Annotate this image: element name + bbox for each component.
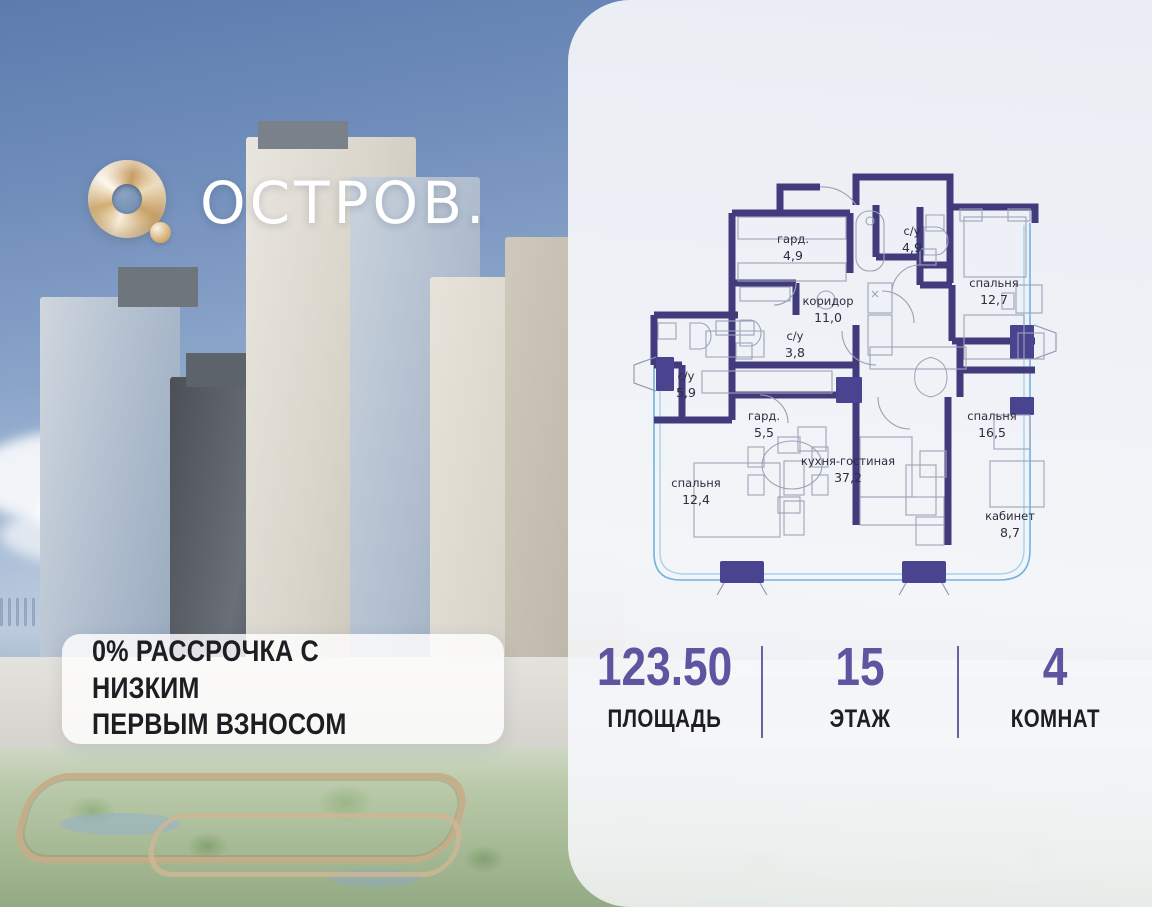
roof-box [118, 267, 198, 307]
brand-name: ОСТРОВ. [200, 174, 488, 232]
stat-rooms: 4 КОМНАТ [959, 640, 1152, 732]
roof-box [258, 121, 348, 149]
island-ring-logo-icon [88, 160, 174, 246]
stat-area: 123.50 ПЛОЩАДЬ [568, 640, 761, 732]
svg-text:гард.: гард. [748, 409, 780, 423]
boardwalk-path [142, 813, 468, 877]
svg-text:3,8: 3,8 [785, 345, 805, 360]
floor-plan-card: .w{stroke:#413b7d;stroke-width:7;fill:no… [568, 0, 1152, 907]
stat-value: 15 [835, 640, 884, 694]
stat-label: ПЛОЩАДЬ [608, 707, 722, 732]
floor-plan-drawing[interactable]: .w{stroke:#413b7d;stroke-width:7;fill:no… [620, 165, 1100, 595]
svg-text:37,2: 37,2 [834, 470, 862, 485]
svg-text:5,9: 5,9 [676, 385, 696, 400]
brand-logo[interactable]: ОСТРОВ. [88, 160, 488, 246]
svg-text:гард.: гард. [777, 232, 809, 246]
stat-floor: 15 ЭТАЖ [763, 640, 956, 732]
svg-text:кухня-гостиная: кухня-гостиная [801, 454, 895, 468]
promo-banner: 0% РАССРОЧКА С НИЗКИМ ПЕРВЫМ ВЗНОСОМ [62, 634, 504, 744]
tower [40, 297, 180, 677]
stat-value: 123.50 [597, 640, 732, 694]
svg-text:4,9: 4,9 [902, 240, 922, 255]
stat-label: ЭТАЖ [830, 707, 891, 732]
svg-text:спальня: спальня [967, 409, 1016, 423]
svg-text:спальня: спальня [671, 476, 720, 490]
svg-text:с/у: с/у [903, 224, 920, 238]
svg-text:12,4: 12,4 [682, 492, 710, 507]
svg-text:кабинет: кабинет [985, 509, 1035, 523]
svg-text:спальня: спальня [969, 276, 1018, 290]
svg-text:с/у: с/у [677, 369, 694, 383]
svg-text:4,9: 4,9 [783, 248, 803, 263]
svg-text:с/у: с/у [786, 329, 803, 343]
svg-text:12,7: 12,7 [980, 292, 1008, 307]
svg-text:8,7: 8,7 [1000, 525, 1020, 540]
svg-text:16,5: 16,5 [978, 425, 1006, 440]
svg-text:5,5: 5,5 [754, 425, 774, 440]
stat-value: 4 [1043, 640, 1068, 694]
stat-label: КОМНАТ [1011, 707, 1100, 732]
svg-text:11,0: 11,0 [814, 310, 842, 325]
svg-text:коридор: коридор [802, 294, 853, 308]
promo-banner-text: 0% РАССРОЧКА С НИЗКИМ ПЕРВЫМ ВЗНОСОМ [92, 634, 413, 744]
promo-card: ОСТРОВ. 0% РАССРОЧКА С НИЗКИМ ПЕРВЫМ ВЗН… [0, 0, 1152, 907]
apartment-stats: 123.50 ПЛОЩАДЬ 15 ЭТАЖ 4 КОМНАТ [568, 640, 1152, 750]
